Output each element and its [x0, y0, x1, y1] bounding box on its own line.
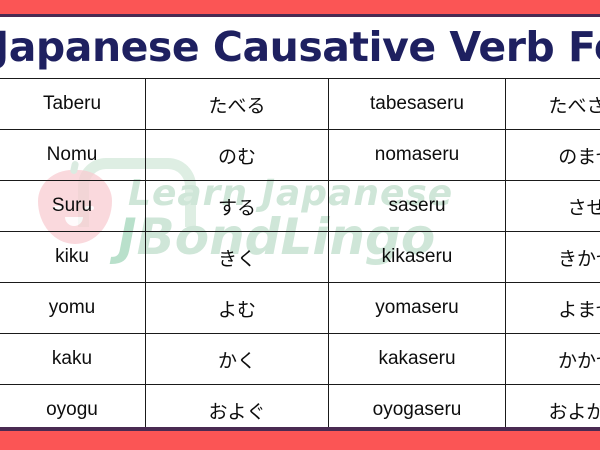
- infographic-page: Japanese Causative Verb Forms Learn Japa…: [0, 0, 600, 450]
- page-title-container: Japanese Causative Verb Forms: [0, 19, 600, 77]
- cell-dictionary-romaji: Nomu: [0, 130, 146, 181]
- table-row: Taberu たべる tabesaseru たべさせる: [0, 79, 600, 130]
- cell-causative-kana: のませる: [506, 130, 600, 181]
- cell-causative-romaji: saseru: [329, 181, 506, 232]
- cell-causative-kana: よませる: [506, 283, 600, 334]
- top-rule-line: [0, 14, 600, 17]
- cell-causative-romaji: nomaseru: [329, 130, 506, 181]
- table-row: oyogu およぐ oyogaseru およがせる: [0, 385, 600, 429]
- cell-dictionary-romaji: yomu: [0, 283, 146, 334]
- top-red-band: [0, 0, 600, 14]
- cell-dictionary-romaji: kaku: [0, 334, 146, 385]
- cell-dictionary-romaji: kiku: [0, 232, 146, 283]
- table-row: kaku かく kakaseru かかせる: [0, 334, 600, 385]
- cell-causative-romaji: kakaseru: [329, 334, 506, 385]
- page-title: Japanese Causative Verb Forms: [0, 19, 600, 75]
- cell-causative-romaji: yomaseru: [329, 283, 506, 334]
- cell-dictionary-kana: かく: [146, 334, 329, 385]
- cell-dictionary-kana: きく: [146, 232, 329, 283]
- verb-table-container: Taberu たべる tabesaseru たべさせる Nomu のむ noma…: [0, 78, 600, 428]
- cell-causative-kana: かかせる: [506, 334, 600, 385]
- bottom-red-band: [0, 431, 600, 450]
- table-row: yomu よむ yomaseru よませる: [0, 283, 600, 334]
- table-row: Nomu のむ nomaseru のませる: [0, 130, 600, 181]
- cell-dictionary-romaji: Taberu: [0, 79, 146, 130]
- cell-dictionary-kana: する: [146, 181, 329, 232]
- cell-causative-kana: たべさせる: [506, 79, 600, 130]
- cell-causative-romaji: tabesaseru: [329, 79, 506, 130]
- causative-verb-table: Taberu たべる tabesaseru たべさせる Nomu のむ noma…: [0, 78, 600, 428]
- cell-dictionary-romaji: Suru: [0, 181, 146, 232]
- cell-causative-kana: およがせる: [506, 385, 600, 429]
- cell-dictionary-kana: よむ: [146, 283, 329, 334]
- cell-dictionary-kana: たべる: [146, 79, 329, 130]
- cell-dictionary-kana: およぐ: [146, 385, 329, 429]
- table-row: Suru する saseru させる: [0, 181, 600, 232]
- cell-causative-romaji: oyogaseru: [329, 385, 506, 429]
- cell-dictionary-kana: のむ: [146, 130, 329, 181]
- cell-dictionary-romaji: oyogu: [0, 385, 146, 429]
- cell-causative-kana: させる: [506, 181, 600, 232]
- table-row: kiku きく kikaseru きかせる: [0, 232, 600, 283]
- cell-causative-kana: きかせる: [506, 232, 600, 283]
- cell-causative-romaji: kikaseru: [329, 232, 506, 283]
